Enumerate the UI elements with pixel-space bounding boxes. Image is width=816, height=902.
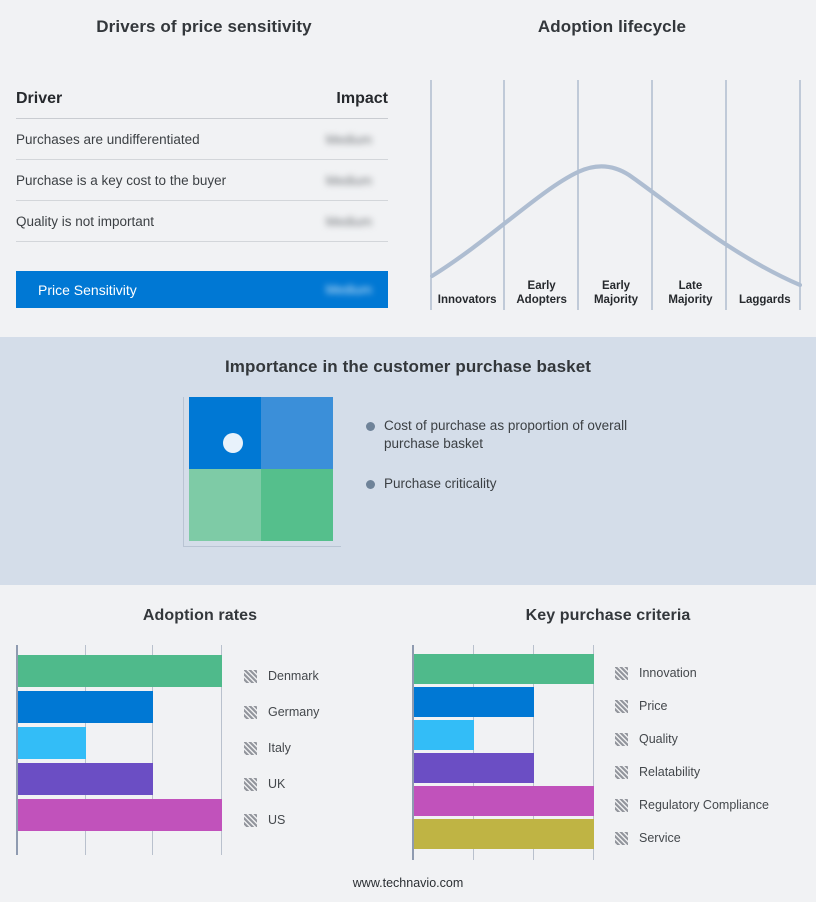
adoption-legend: Denmark Germany Italy UK US: [244, 660, 319, 836]
lifecycle-stage-late-majority: Late Majority: [653, 263, 727, 309]
bar-relatability: [414, 753, 534, 783]
column-header-impact: Impact: [336, 90, 388, 108]
legend-item-price: Price: [615, 691, 769, 721]
legend-item-relatability: Relatability: [615, 757, 769, 787]
importance-panel: Importance in the customer purchase bask…: [0, 337, 816, 585]
bar-denmark: [18, 655, 222, 687]
stage-line-2: Majority: [668, 293, 712, 307]
quadrant-bottom-right: [261, 469, 333, 541]
bullet-icon: [366, 422, 375, 431]
bar-row-quality: [414, 720, 594, 750]
legend-item-us: US: [244, 804, 319, 836]
stage-line-1: Early: [528, 279, 556, 293]
infographic-page: Drivers of price sensitivity Driver Impa…: [0, 0, 816, 902]
key-purchase-criteria-title: Key purchase criteria: [400, 607, 816, 625]
driver-label: Quality is not important: [16, 214, 154, 229]
bullet-icon: [366, 480, 375, 489]
legend-item-uk: UK: [244, 768, 319, 800]
stage-line-2: Innovators: [438, 293, 497, 307]
bar-row-price: [414, 687, 594, 717]
legend-label: Italy: [268, 741, 291, 755]
table-row: Quality is not important Medium: [16, 201, 388, 242]
legend-item-innovation: Innovation: [615, 658, 769, 688]
stage-line-2: Majority: [594, 293, 638, 307]
quadrant-y-axis: [183, 397, 184, 547]
impact-value: Medium: [326, 214, 388, 229]
legend-label: Service: [639, 831, 681, 845]
bar-row-relatability: [414, 753, 594, 783]
importance-panel-title: Importance in the customer purchase bask…: [0, 357, 816, 377]
adoption-rates-chart: Denmark Germany Italy UK US: [16, 645, 386, 865]
adoption-rates-title: Adoption rates: [0, 607, 400, 625]
drivers-panel: Drivers of price sensitivity Driver Impa…: [0, 0, 408, 337]
lifecycle-stage-laggards: Laggards: [728, 263, 802, 309]
legend-label: Cost of purchase as proportion of overal…: [384, 417, 646, 453]
quadrant-bottom-left: [189, 469, 261, 541]
bar-service: [414, 819, 594, 849]
bar-row-us: [18, 799, 222, 831]
drivers-table-header: Driver Impact: [16, 90, 388, 119]
criteria-legend: Innovation Price Quality Relatability Re…: [615, 658, 769, 853]
importance-legend: Cost of purchase as proportion of overal…: [366, 417, 696, 515]
adoption-rates-panel: Adoption rates: [0, 585, 400, 902]
hatched-swatch-icon: [244, 706, 257, 719]
bar-italy: [18, 727, 86, 759]
driver-label: Purchase is a key cost to the buyer: [16, 173, 226, 188]
criteria-bars: [414, 654, 594, 849]
hatched-swatch-icon: [615, 766, 628, 779]
bar-innovation: [414, 654, 594, 684]
bar-row-germany: [18, 691, 222, 723]
table-row: Purchase is a key cost to the buyer Medi…: [16, 160, 388, 201]
hatched-swatch-icon: [244, 778, 257, 791]
legend-item-denmark: Denmark: [244, 660, 319, 692]
hatched-swatch-icon: [244, 742, 257, 755]
hatched-swatch-icon: [615, 700, 628, 713]
legend-label: Germany: [268, 705, 319, 719]
criteria-plot-area: [412, 645, 594, 860]
bar-germany: [18, 691, 153, 723]
bar-row-innovation: [414, 654, 594, 684]
legend-item-regulatory-compliance: Regulatory Compliance: [615, 790, 769, 820]
legend-label: Price: [639, 699, 667, 713]
adoption-plot-area: [16, 645, 222, 855]
lifecycle-panel-title: Adoption lifecycle: [408, 17, 816, 37]
bar-row-uk: [18, 763, 222, 795]
position-marker-dot: [223, 433, 243, 453]
bar-quality: [414, 720, 474, 750]
lifecycle-stage-innovators: Innovators: [430, 263, 504, 309]
hatched-swatch-icon: [615, 733, 628, 746]
price-sensitivity-highlight-row: Price Sensitivity Medium: [16, 271, 388, 308]
legend-label: Quality: [639, 732, 678, 746]
quadrant-top-left: [189, 397, 261, 469]
stage-line-2: Laggards: [739, 293, 791, 307]
list-item: Cost of purchase as proportion of overal…: [366, 417, 696, 453]
hatched-swatch-icon: [615, 667, 628, 680]
stage-line-1: Late: [679, 279, 703, 293]
legend-item-quality: Quality: [615, 724, 769, 754]
bar-price: [414, 687, 534, 717]
bar-regulatory-compliance: [414, 786, 594, 816]
bar-uk: [18, 763, 153, 795]
hatched-swatch-icon: [615, 832, 628, 845]
drivers-panel-title: Drivers of price sensitivity: [0, 17, 408, 37]
lifecycle-stage-labels: Innovators Early Adopters Early Majority…: [430, 263, 802, 309]
driver-label: Purchases are undifferentiated: [16, 132, 200, 147]
legend-label: Regulatory Compliance: [639, 798, 769, 812]
lifecycle-panel: Adoption lifecycle Innovators: [408, 0, 816, 337]
legend-label: Relatability: [639, 765, 700, 779]
table-row: Purchases are undifferentiated Medium: [16, 119, 388, 160]
legend-label: Denmark: [268, 669, 319, 683]
adoption-bars: [18, 655, 222, 831]
quadrant-top-right: [261, 397, 333, 469]
key-purchase-criteria-panel: Key purchase criteria: [400, 585, 816, 902]
legend-label: UK: [268, 777, 285, 791]
impact-value: Medium: [326, 282, 388, 297]
bar-row-denmark: [18, 655, 222, 687]
lifecycle-stage-early-majority: Early Majority: [579, 263, 653, 309]
bar-row-italy: [18, 727, 222, 759]
lifecycle-stage-early-adopters: Early Adopters: [504, 263, 578, 309]
drivers-table: Driver Impact Purchases are undifferenti…: [16, 90, 388, 242]
legend-label: US: [268, 813, 285, 827]
hatched-swatch-icon: [244, 670, 257, 683]
stage-line-1: Early: [602, 279, 630, 293]
hatched-swatch-icon: [615, 799, 628, 812]
stage-line-2: Adopters: [516, 293, 566, 307]
legend-item-germany: Germany: [244, 696, 319, 728]
driver-label: Price Sensitivity: [16, 282, 137, 298]
hatched-swatch-icon: [244, 814, 257, 827]
column-header-driver: Driver: [16, 90, 62, 108]
quadrant-matrix: [183, 397, 333, 547]
key-purchase-criteria-chart: Innovation Price Quality Relatability Re…: [412, 645, 812, 875]
legend-item-italy: Italy: [244, 732, 319, 764]
legend-label: Innovation: [639, 666, 697, 680]
quadrant-cells: [189, 397, 333, 541]
legend-item-service: Service: [615, 823, 769, 853]
bar-row-regulatory-compliance: [414, 786, 594, 816]
list-item: Purchase criticality: [366, 475, 696, 493]
footer-url: www.technavio.com: [0, 876, 816, 890]
impact-value: Medium: [326, 132, 388, 147]
legend-label: Purchase criticality: [384, 475, 497, 493]
bar-row-service: [414, 819, 594, 849]
quadrant-x-axis: [183, 546, 341, 547]
impact-value: Medium: [326, 173, 388, 188]
bar-us: [18, 799, 222, 831]
